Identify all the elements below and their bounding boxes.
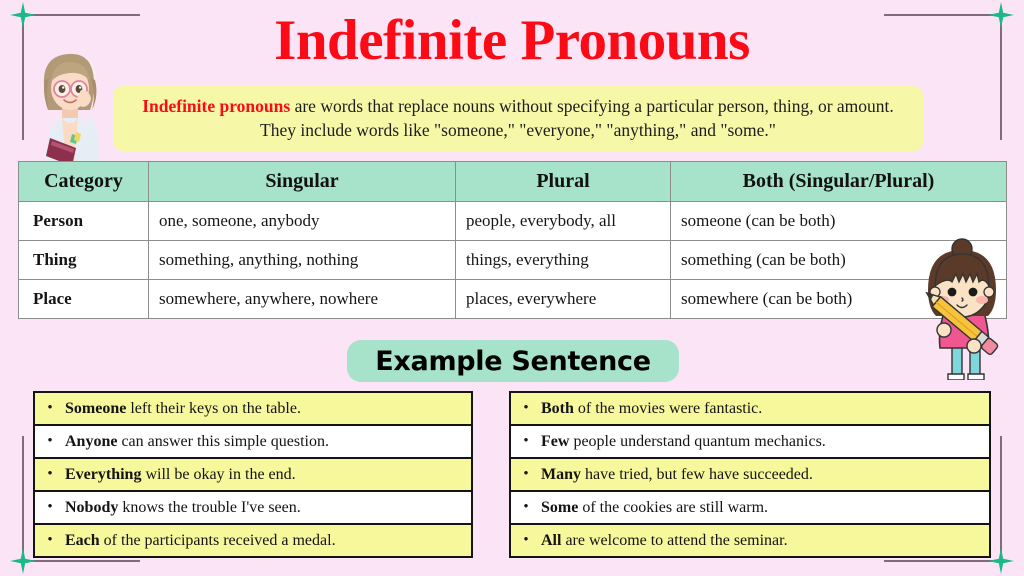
girl-with-pencil-illustration <box>912 238 1012 380</box>
bullet-icon: • <box>521 434 531 449</box>
list-item: • Some of the cookies are still warm. <box>511 492 989 525</box>
bullet-icon: • <box>45 533 55 548</box>
corner-line-bottom-left-vertical <box>22 436 24 562</box>
list-item-rest: of the cookies are still warm. <box>578 499 768 516</box>
corner-line-bottom-right-horizontal <box>884 560 1002 562</box>
bullet-icon: • <box>521 533 531 548</box>
bullet-icon: • <box>45 467 55 482</box>
list-item: • Each of the participants received a me… <box>35 525 471 556</box>
list-item-keyword: All <box>541 532 561 549</box>
list-item: • Anyone can answer this simple question… <box>35 426 471 459</box>
list-item-text: Both of the movies were fantastic. <box>541 398 762 419</box>
table-row: Thing something, anything, nothing thing… <box>19 241 1007 280</box>
bullet-icon: • <box>45 500 55 515</box>
list-item-rest: of the movies were fantastic. <box>574 400 762 417</box>
intro-lead-text: Indefinite pronouns <box>142 96 290 116</box>
page-title: Indefinite Pronouns <box>0 8 1024 74</box>
list-item-text: Nobody knows the trouble I've seen. <box>65 497 301 518</box>
list-item-text: All are welcome to attend the seminar. <box>541 530 788 551</box>
bullet-icon: • <box>521 467 531 482</box>
list-item: • Everything will be okay in the end. <box>35 459 471 492</box>
list-item: • Few people understand quantum mechanic… <box>511 426 989 459</box>
list-item-rest: have tried, but few have succeeded. <box>581 466 813 483</box>
poster-canvas: Indefinite Pronouns <box>0 0 1024 576</box>
list-item-keyword: Few <box>541 433 569 450</box>
teacher-pointing-illustration <box>24 42 120 164</box>
list-item-rest: people understand quantum mechanics. <box>569 433 825 450</box>
list-item-text: Someone left their keys on the table. <box>65 398 301 419</box>
pronoun-table: Category Singular Plural Both (Singular/… <box>18 161 1007 319</box>
list-item-rest: of the participants received a medal. <box>100 532 336 549</box>
list-item-keyword: Anyone <box>65 433 117 450</box>
example-sentence-banner: Example Sentence <box>347 340 679 382</box>
table-cell-both: someone (can be both) <box>671 202 1007 241</box>
list-item-text: Many have tried, but few have succeeded. <box>541 464 813 485</box>
list-item-rest: knows the trouble I've seen. <box>118 499 300 516</box>
table-cell-singular: something, anything, nothing <box>149 241 456 280</box>
table-cell-category: Place <box>19 280 149 319</box>
list-item-rest: left their keys on the table. <box>126 400 301 417</box>
list-item-keyword: Both <box>541 400 574 417</box>
corner-line-bottom-right-vertical <box>1000 436 1002 562</box>
corner-line-bottom-left-horizontal <box>22 560 140 562</box>
table-cell-plural: places, everywhere <box>456 280 671 319</box>
bullet-icon: • <box>45 434 55 449</box>
bullet-icon: • <box>45 401 55 416</box>
intro-body-text: are words that replace nouns without spe… <box>260 96 894 140</box>
list-item-text: Some of the cookies are still warm. <box>541 497 768 518</box>
list-item-rest: will be okay in the end. <box>141 466 295 483</box>
pronoun-table-wrapper: Category Singular Plural Both (Singular/… <box>18 161 1006 319</box>
example-sentence-banner-label: Example Sentence <box>375 346 650 377</box>
list-item-text: Everything will be okay in the end. <box>65 464 296 485</box>
table-header-singular: Singular <box>149 162 456 202</box>
table-cell-singular: somewhere, anywhere, nowhere <box>149 280 456 319</box>
list-item: • Both of the movies were fantastic. <box>511 393 989 426</box>
list-item: • Someone left their keys on the table. <box>35 393 471 426</box>
list-item-keyword: Nobody <box>65 499 118 516</box>
list-item-keyword: Each <box>65 532 100 549</box>
list-item-keyword: Someone <box>65 400 126 417</box>
list-item: • Many have tried, but few have succeede… <box>511 459 989 492</box>
list-item-keyword: Many <box>541 466 581 483</box>
table-header-row: Category Singular Plural Both (Singular/… <box>19 162 1007 202</box>
bullet-icon: • <box>521 500 531 515</box>
example-list-right: • Both of the movies were fantastic. • F… <box>509 391 991 558</box>
table-cell-singular: one, someone, anybody <box>149 202 456 241</box>
list-item-rest: are welcome to attend the seminar. <box>561 532 787 549</box>
table-cell-plural: people, everybody, all <box>456 202 671 241</box>
table-row: Place somewhere, anywhere, nowhere place… <box>19 280 1007 319</box>
list-item-keyword: Everything <box>65 466 141 483</box>
list-item: • Nobody knows the trouble I've seen. <box>35 492 471 525</box>
list-item-text: Anyone can answer this simple question. <box>65 431 329 452</box>
table-header-plural: Plural <box>456 162 671 202</box>
table-cell-category: Thing <box>19 241 149 280</box>
intro-description-box: Indefinite pronouns are words that repla… <box>113 86 923 151</box>
table-cell-plural: things, everything <box>456 241 671 280</box>
table-cell-category: Person <box>19 202 149 241</box>
list-item-text: Each of the participants received a meda… <box>65 530 336 551</box>
table-row: Person one, someone, anybody people, eve… <box>19 202 1007 241</box>
list-item-text: Few people understand quantum mechanics. <box>541 431 826 452</box>
list-item-keyword: Some <box>541 499 578 516</box>
list-item: • All are welcome to attend the seminar. <box>511 525 989 556</box>
table-header-both: Both (Singular/Plural) <box>671 162 1007 202</box>
bullet-icon: • <box>521 401 531 416</box>
list-item-rest: can answer this simple question. <box>117 433 329 450</box>
table-header-category: Category <box>19 162 149 202</box>
example-list-left: • Someone left their keys on the table. … <box>33 391 473 558</box>
